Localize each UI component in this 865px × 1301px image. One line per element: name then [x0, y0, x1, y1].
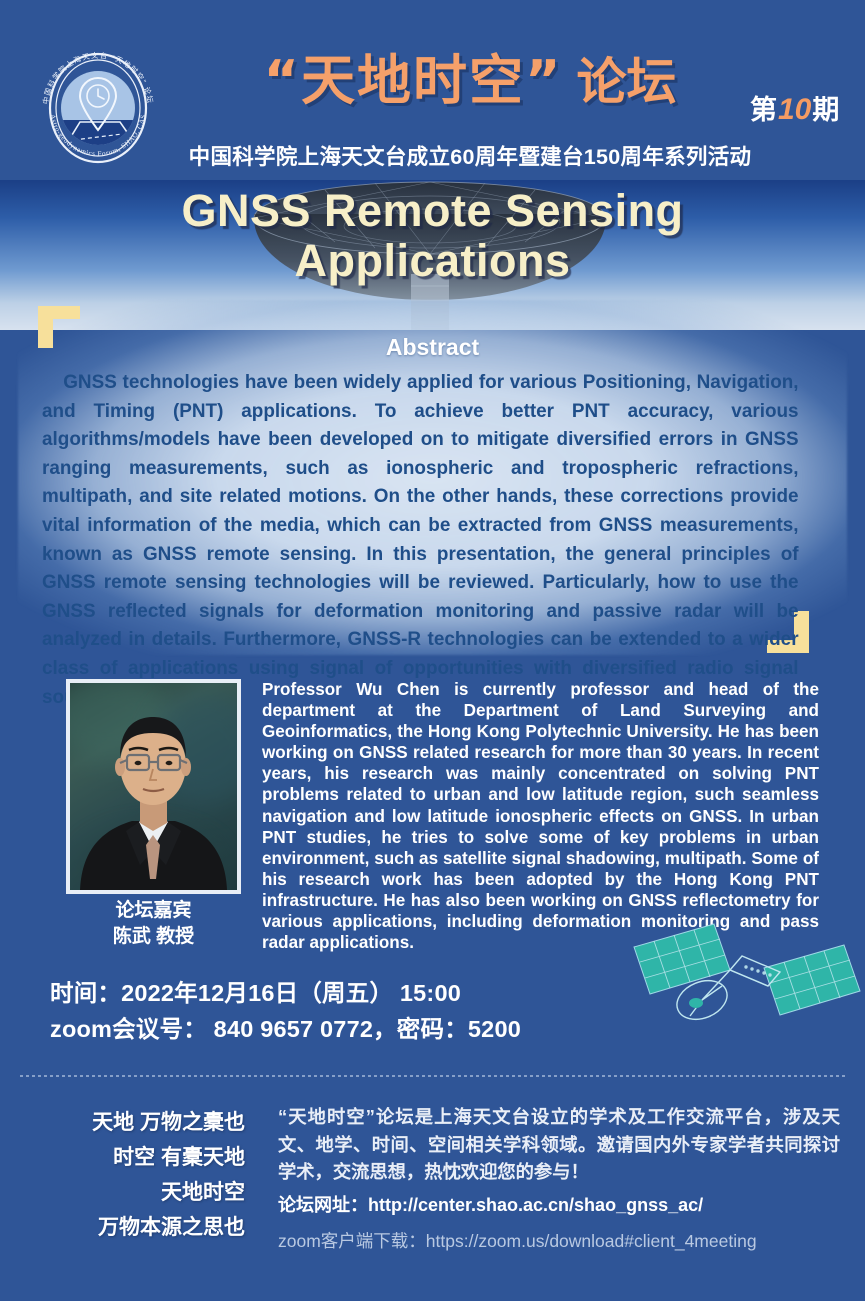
poster-root: 中国科学院上海天文台 “天地时空” 论坛 Astro-geodynamics F… — [0, 0, 865, 1301]
slogan-line: 万物本源之思也 — [30, 1210, 245, 1245]
zoom-download-value[interactable]: https://zoom.us/download#client_4meeting — [426, 1231, 757, 1251]
header-subtitle: 中国科学院上海天文台成立60周年暨建台150周年系列活动 — [120, 140, 820, 171]
forum-slogan: 天地 万物之橐也 时空 有橐天地 天地时空 万物本源之思也 — [30, 1105, 245, 1245]
slogan-line: 天地时空 — [30, 1175, 245, 1210]
issue-badge: 第10期 — [750, 88, 839, 127]
abstract-body: GNSS technologies have been widely appli… — [42, 368, 799, 711]
forum-description: “天地时空”论坛是上海天文台设立的学术及工作交流平台，涉及天文、地学、时间、空间… — [278, 1103, 840, 1186]
issue-suffix: 期 — [812, 95, 839, 125]
forum-title-quote: “天地时空” — [264, 49, 563, 112]
section-divider — [20, 1075, 845, 1077]
issue-prefix: 第 — [750, 95, 777, 125]
portrait-figure — [70, 683, 237, 890]
forum-website-value[interactable]: http://center.shao.ac.cn/shao_gnss_ac/ — [368, 1195, 703, 1215]
issue-number: 10 — [777, 93, 812, 126]
slogan-line: 天地 万物之橐也 — [30, 1105, 245, 1140]
abstract-panel: Abstract GNSS technologies have been wid… — [18, 300, 847, 655]
forum-website-label: 论坛网址： — [278, 1195, 368, 1215]
meeting-zoom-id: zoom会议号： 840 9657 0772，密码：5200 — [50, 1011, 750, 1047]
poster-header: 中国科学院上海天文台 “天地时空” 论坛 Astro-geodynamics F… — [0, 0, 865, 180]
speaker-role: 论坛嘉宾 — [46, 898, 261, 924]
forum-title: “天地时空”论坛 — [190, 42, 750, 117]
speaker-bio: Professor Wu Chen is currently professor… — [262, 679, 819, 953]
meeting-info: 时间：2022年12月16日（周五） 15:00 zoom会议号： 840 96… — [50, 975, 750, 1047]
speaker-caption: 论坛嘉宾 陈武 教授 — [46, 898, 261, 950]
meeting-time: 时间：2022年12月16日（周五） 15:00 — [50, 975, 750, 1011]
forum-website[interactable]: 论坛网址：http://center.shao.ac.cn/shao_gnss_… — [278, 1191, 840, 1217]
zoom-download-link[interactable]: zoom客户端下载：https://zoom.us/download#clien… — [278, 1228, 840, 1253]
slogan-line: 时空 有橐天地 — [30, 1140, 245, 1175]
speaker-photo — [66, 679, 241, 894]
zoom-download-label: zoom客户端下载： — [278, 1231, 426, 1251]
forum-title-word: 论坛 — [576, 54, 676, 110]
speaker-name: 陈武 教授 — [46, 924, 261, 950]
abstract-heading: Abstract — [18, 334, 847, 361]
